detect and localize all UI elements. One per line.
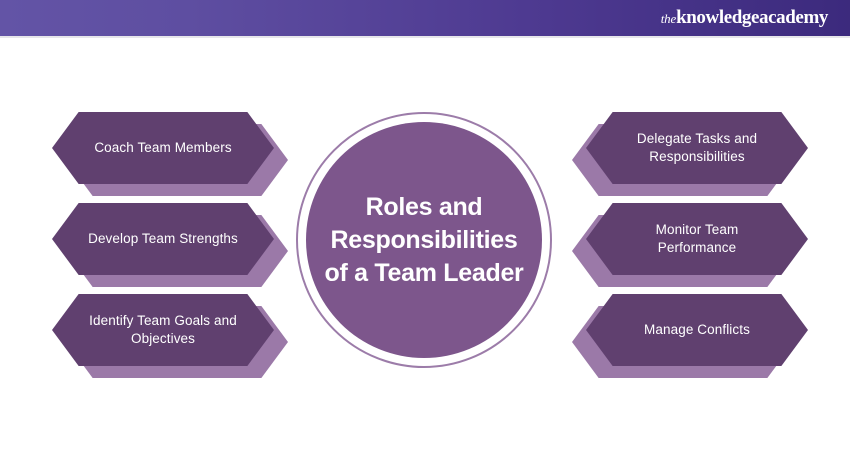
hex-main-shape: Identify Team Goals and Objectives: [52, 294, 274, 366]
hex-label: Manage Conflicts: [617, 321, 777, 339]
center-circle: Roles and Responsibilities of a Team Lea…: [296, 112, 552, 368]
hex-main-shape: Manage Conflicts: [586, 294, 808, 366]
hex-label: Delegate Tasks and Responsibilities: [617, 130, 777, 166]
hex-label: Monitor Team Performance: [617, 221, 777, 257]
hex-main-shape: Develop Team Strengths: [52, 203, 274, 275]
hex-label: Develop Team Strengths: [83, 230, 243, 248]
center-circle-disc: Roles and Responsibilities of a Team Lea…: [306, 122, 542, 358]
brand-logo-name: knowledgeacademy: [676, 7, 828, 29]
hex-node-delegate-tasks-and-responsibilities[interactable]: Delegate Tasks and Responsibilities: [586, 112, 808, 184]
hex-node-manage-conflicts[interactable]: Manage Conflicts: [586, 294, 808, 366]
hex-main-shape: Monitor Team Performance: [586, 203, 808, 275]
hex-node-develop-team-strengths[interactable]: Develop Team Strengths: [52, 203, 274, 275]
header-divider: [0, 36, 850, 38]
hex-label: Coach Team Members: [83, 139, 243, 157]
infographic-page: theknowledgeacademy Roles and Responsibi…: [0, 0, 850, 450]
header-bar: theknowledgeacademy: [0, 0, 850, 36]
center-title: Roles and Responsibilities of a Team Lea…: [319, 191, 529, 290]
hex-node-identify-team-goals-and-objectives[interactable]: Identify Team Goals and Objectives: [52, 294, 274, 366]
hex-node-coach-team-members[interactable]: Coach Team Members: [52, 112, 274, 184]
hex-node-monitor-team-performance[interactable]: Monitor Team Performance: [586, 203, 808, 275]
hex-main-shape: Delegate Tasks and Responsibilities: [586, 112, 808, 184]
brand-logo-the: the: [661, 11, 676, 27]
brand-logo: theknowledgeacademy: [661, 5, 828, 31]
hex-main-shape: Coach Team Members: [52, 112, 274, 184]
hex-label: Identify Team Goals and Objectives: [83, 312, 243, 348]
